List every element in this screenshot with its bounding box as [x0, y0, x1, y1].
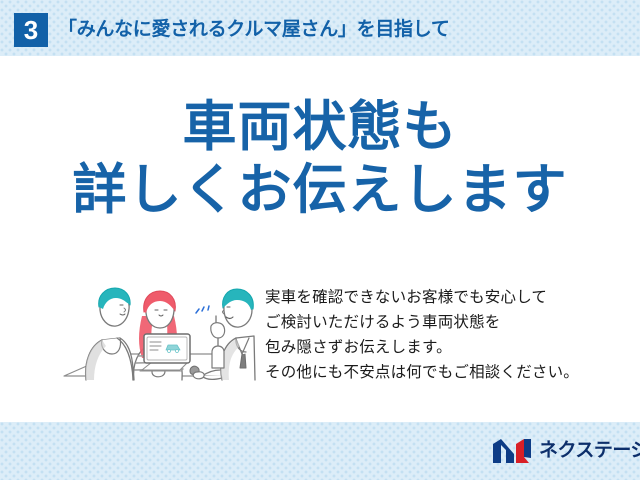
- brand-logo-text: ネクステージ: [539, 438, 640, 464]
- body-copy: 実車を確認できないお客様でも安心して ご検討いただけるよう車両状態を 包み隠さず…: [265, 285, 615, 385]
- header-title: 「みんなに愛されるクルマ屋さん」を目指して: [58, 14, 450, 46]
- body-copy-line: 実車を確認できないお客様でも安心して: [265, 285, 615, 310]
- sparkle-marks: [196, 306, 209, 313]
- body-copy-line: その他にも不安点は何でもご相談ください。: [265, 360, 615, 385]
- brand-logo: ネクステージ: [492, 437, 640, 465]
- body-copy-line: ご検討いただけるよう車両状態を: [265, 310, 615, 335]
- body-copy-line: 包み隠さずお伝えします。: [265, 335, 615, 360]
- nexstage-n-logo-icon: [492, 438, 532, 464]
- page-headline: 車両状態も 詳しくお伝えします: [0, 96, 640, 222]
- sales-consultation-illustration: [56, 276, 256, 388]
- headline-line-1: 車両状態も: [0, 96, 640, 158]
- headline-line-2: 詳しくお伝えします: [0, 158, 640, 222]
- promo-banner: 3 「みんなに愛されるクルマ屋さん」を目指して 車両状態も 詳しくお伝えします …: [0, 0, 640, 480]
- step-number-badge: 3: [14, 13, 48, 47]
